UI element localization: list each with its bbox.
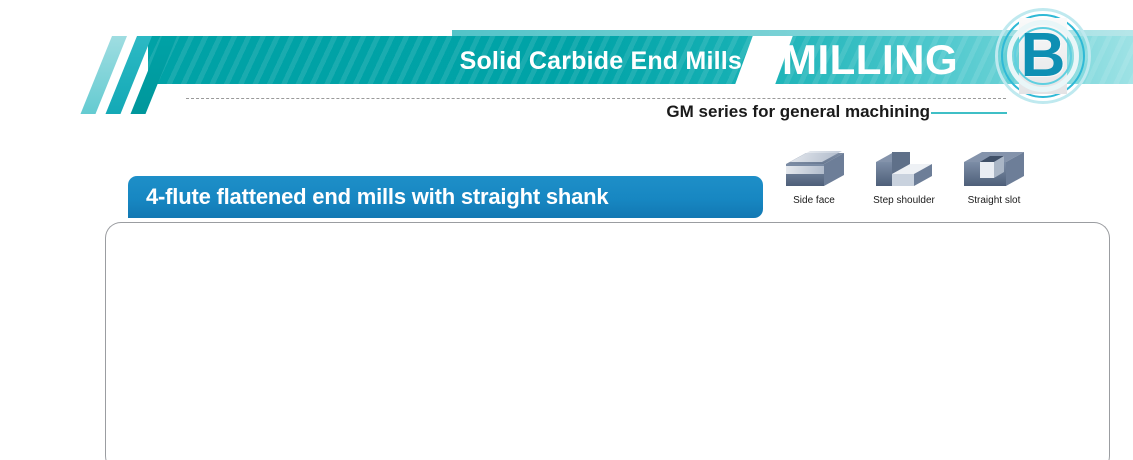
operation-caption: Straight slot	[960, 195, 1028, 206]
header-section-word: MILLING	[782, 33, 997, 87]
catalog-page: Solid Carbide End Mills MILLING B GM ser…	[0, 0, 1133, 460]
header-subtitle-tail	[931, 112, 1007, 114]
header-dashed-rule	[186, 98, 1006, 99]
step-shoulder-icon	[870, 150, 938, 194]
side-face-icon	[780, 150, 848, 194]
operation-side-face: Side face	[780, 150, 848, 216]
operation-caption: Side face	[780, 195, 848, 206]
header-subtitle: GM series for general machining	[600, 100, 930, 124]
section-badge: B	[995, 8, 1091, 104]
product-family-title-label: 4-flute flattened end mills with straigh…	[146, 184, 608, 210]
product-family-title-bar: 4-flute flattened end mills with straigh…	[128, 176, 763, 218]
operation-step-shoulder: Step shoulder	[870, 150, 938, 216]
operation-straight-slot: Straight slot	[960, 150, 1028, 216]
straight-slot-icon	[960, 150, 1028, 194]
badge-letter: B	[995, 8, 1091, 104]
header-band-title: Solid Carbide End Mills	[404, 44, 742, 78]
operation-caption: Step shoulder	[870, 195, 938, 206]
operation-icons: Side face Step shoulder Straig	[780, 150, 1028, 216]
header-diagonal-stripes	[104, 36, 244, 114]
product-card	[105, 222, 1110, 460]
